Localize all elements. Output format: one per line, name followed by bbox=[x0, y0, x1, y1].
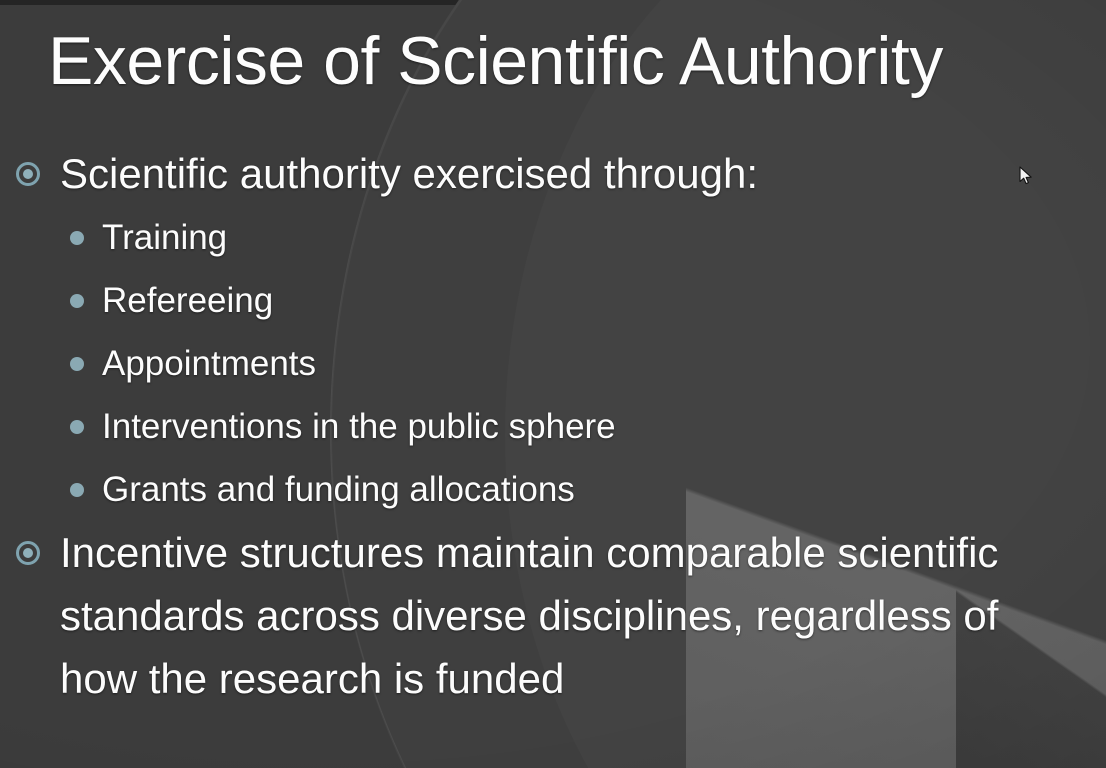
ring-dot-bullet-icon bbox=[16, 541, 40, 565]
bullet-level2-item: Refereeing bbox=[0, 269, 1106, 332]
bullet-level2-item: Grants and funding allocations bbox=[0, 458, 1106, 521]
mouse-cursor-icon bbox=[1019, 166, 1035, 186]
dot-bullet-icon bbox=[70, 231, 84, 245]
bullet-level2-item: Appointments bbox=[0, 332, 1106, 395]
slide-body-list: Scientific authority exercised through: … bbox=[0, 142, 1106, 710]
dot-bullet-icon bbox=[70, 357, 84, 371]
bullet-level2-label: Grants and funding allocations bbox=[102, 470, 575, 509]
bullet-sublist: Training Refereeing Appointments Interve… bbox=[0, 206, 1106, 521]
bullet-level2-item: Training bbox=[0, 206, 1106, 269]
dot-bullet-icon bbox=[70, 483, 84, 497]
bullet-level1-item: Incentive structures maintain comparable… bbox=[0, 521, 1106, 710]
dot-bullet-icon bbox=[70, 420, 84, 434]
bullet-level1-item: Scientific authority exercised through: bbox=[0, 142, 1106, 206]
bullet-level2-label: Training bbox=[102, 218, 227, 257]
bullet-level2-label: Appointments bbox=[102, 344, 316, 383]
bullet-level1-label: Scientific authority exercised through: bbox=[60, 150, 758, 197]
bullet-level2-label: Refereeing bbox=[102, 281, 273, 320]
slide-content: Exercise of Scientific Authority Scienti… bbox=[0, 0, 1106, 768]
presentation-slide: Exercise of Scientific Authority Scienti… bbox=[0, 0, 1106, 768]
ring-dot-bullet-icon bbox=[16, 162, 40, 186]
dot-bullet-icon bbox=[70, 294, 84, 308]
bullet-level2-item: Interventions in the public sphere bbox=[0, 395, 1106, 458]
bullet-level1-label: Incentive structures maintain comparable… bbox=[60, 529, 998, 702]
bullet-level2-label: Interventions in the public sphere bbox=[102, 407, 616, 446]
slide-title: Exercise of Scientific Authority bbox=[48, 22, 1058, 100]
